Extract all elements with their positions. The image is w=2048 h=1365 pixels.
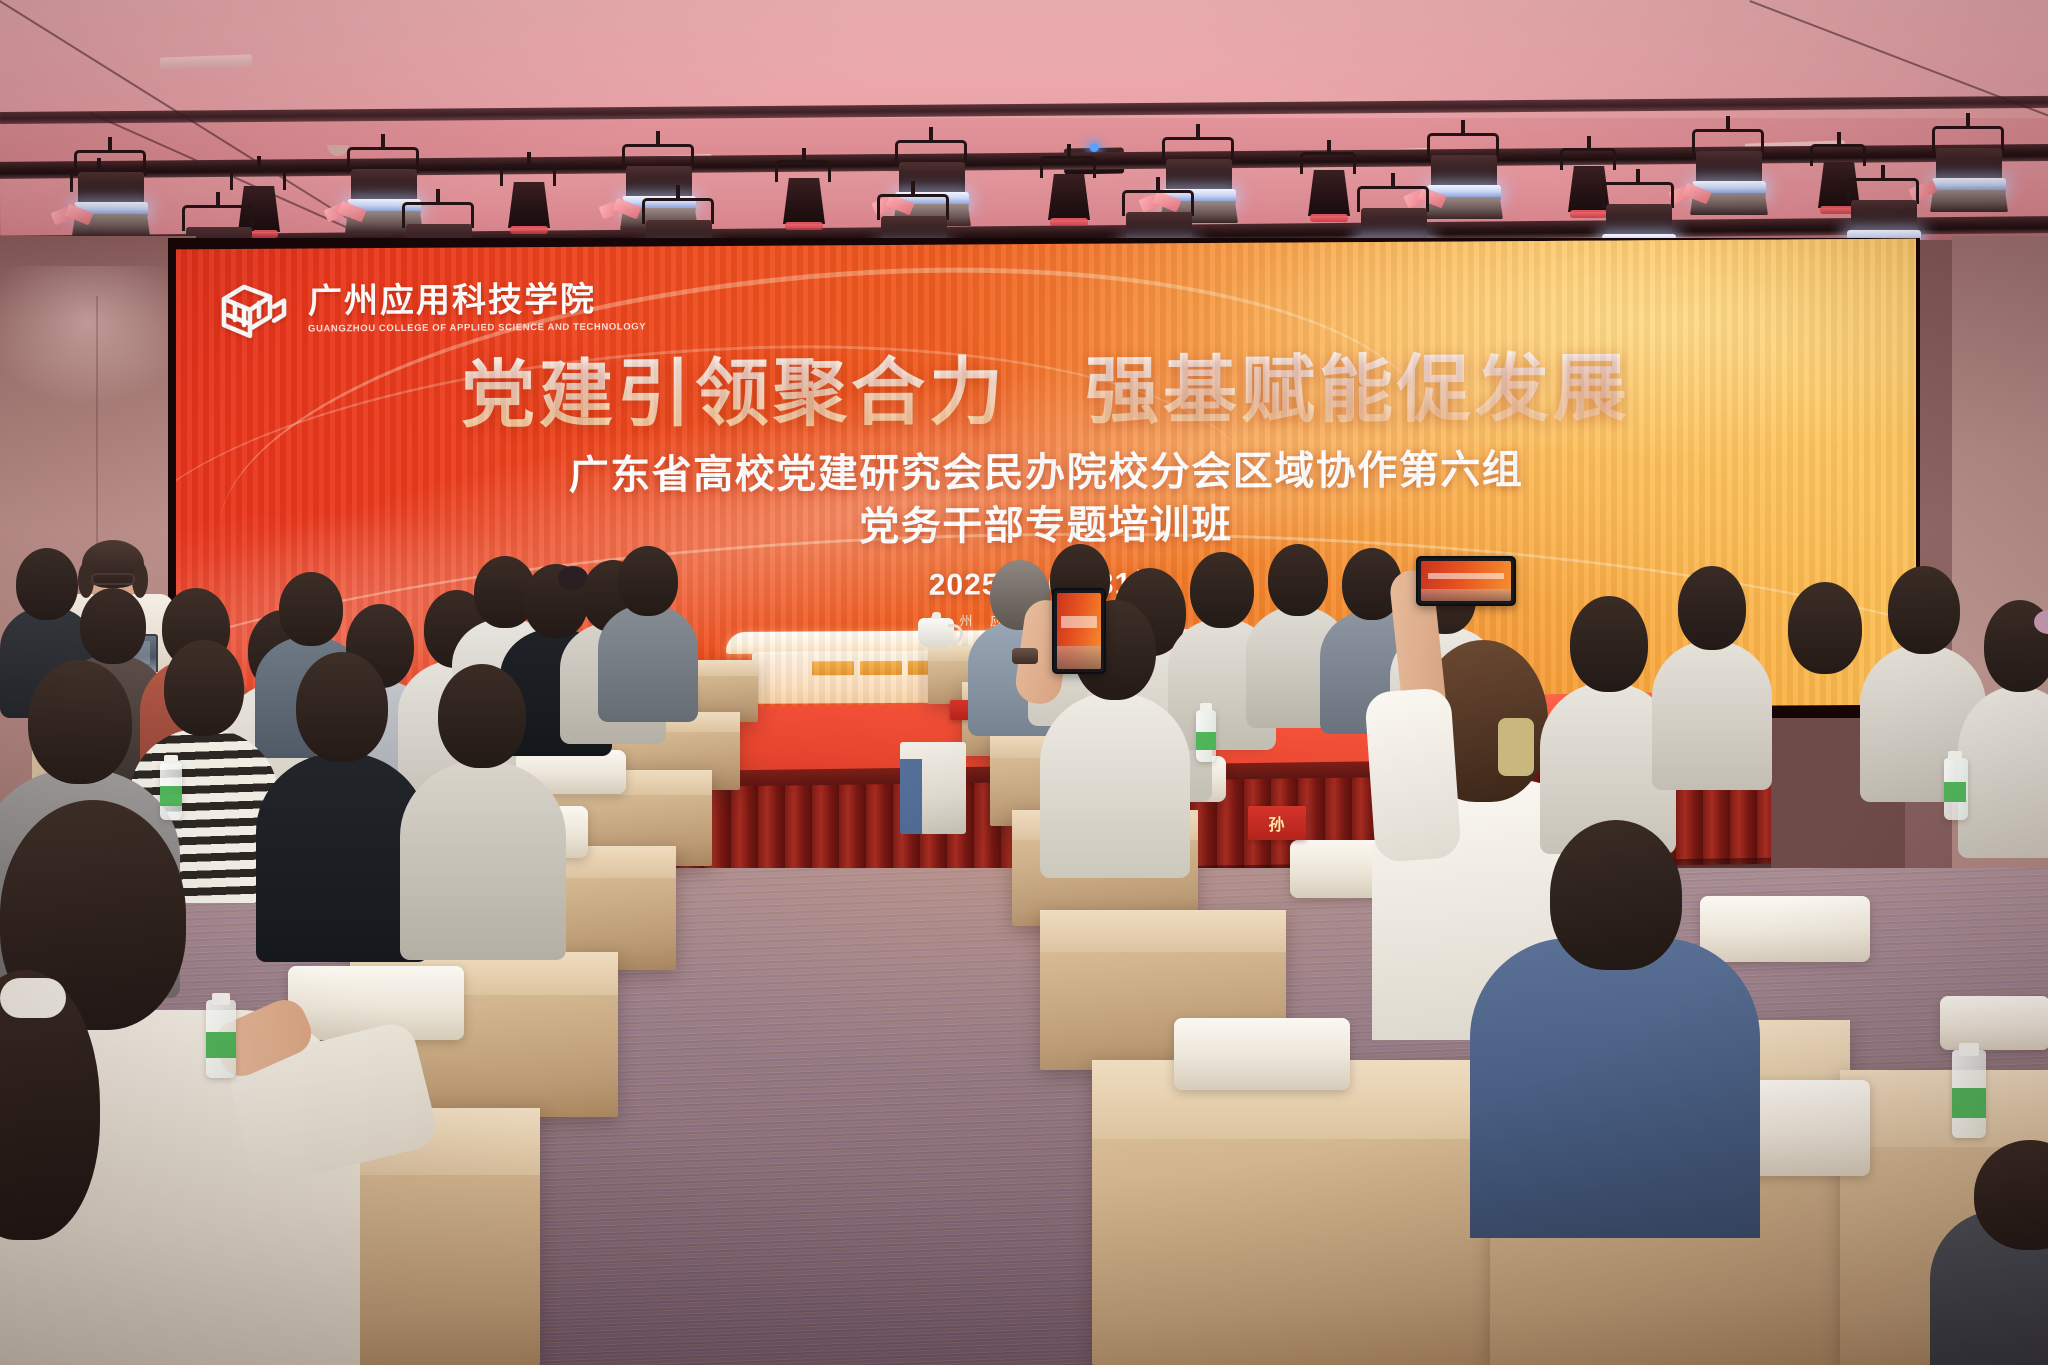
wristwatch [1012, 648, 1038, 664]
attendee-head [1678, 566, 1746, 650]
fixture-cone [1308, 170, 1350, 216]
bottle-label [1944, 782, 1966, 802]
water-bottle [1196, 710, 1216, 762]
attendee [1958, 600, 2048, 830]
attendee-torso [1652, 640, 1772, 790]
attendee-jacket [1470, 938, 1760, 1238]
smartphone-recording[interactable] [1416, 556, 1516, 606]
fixture-glow [1570, 210, 1608, 218]
attendee-head [618, 546, 678, 616]
bottle-label [206, 1032, 236, 1058]
fixture-hood [1930, 190, 2008, 212]
phone-screen [1057, 593, 1101, 669]
attendee-head [1888, 566, 1960, 654]
fixture-cone [783, 178, 825, 224]
bottle-label [1952, 1088, 1986, 1118]
attendee-head [1268, 544, 1328, 616]
wall-light-glow [0, 266, 196, 406]
hair-tie [0, 978, 66, 1018]
bottle-cap [164, 755, 178, 764]
bottle-cap [1948, 751, 1962, 760]
attendee-head [1788, 582, 1862, 674]
audience-chair [1174, 1018, 1350, 1090]
bottle-cap [212, 993, 230, 1005]
conference-hall-photo: 广州应用科技学院 GUANGZHOU COLLEGE OF APPLIED SC… [0, 0, 2048, 1365]
school-name-en: GUANGZHOU COLLEGE OF APPLIED SCIENCE AND… [308, 321, 646, 334]
attendee-head [1190, 552, 1254, 628]
attendee [598, 546, 698, 706]
attendee-torso [598, 604, 698, 722]
attendee-foreground [1470, 820, 1760, 1220]
table-top [1840, 1070, 2048, 1147]
bottle-label [1196, 732, 1216, 750]
teapot-knob [932, 612, 941, 619]
bottle-label [160, 786, 182, 806]
attendee [1652, 566, 1772, 766]
bottle-cap [1200, 703, 1212, 711]
fixture-glow [785, 222, 823, 230]
attendee-head [1550, 820, 1682, 970]
attendee-head [1570, 596, 1648, 692]
fixture-glow [1310, 214, 1348, 222]
attendee-torso [400, 760, 566, 960]
bottle-cap [1959, 1043, 1979, 1056]
school-logo-text: 广州应用科技学院 GUANGZHOU COLLEGE OF APPLIED SC… [308, 283, 646, 335]
projector-led-icon [1090, 143, 1099, 152]
audience-table [1092, 1060, 1492, 1365]
smartphone-recording[interactable] [1052, 588, 1106, 674]
teapot [918, 618, 954, 648]
building-window [860, 661, 902, 675]
water-bottle [1952, 1050, 1986, 1138]
attendee [400, 664, 566, 934]
table-top [1040, 910, 1286, 952]
attendee-head [296, 652, 388, 762]
water-bottle [160, 762, 182, 820]
phone-screen [1421, 561, 1511, 601]
place-name-card: 孙 [1248, 806, 1306, 840]
smoke-detector-icon [327, 145, 349, 156]
bag-panel [900, 759, 922, 834]
attendee-head [438, 664, 526, 768]
event-headline: 党建引领聚合力 强基赋能促发展 [176, 327, 1916, 445]
attendee-sleeve [1364, 687, 1462, 863]
attendee-hair-clip [1498, 718, 1534, 776]
water-bottle [206, 1000, 236, 1078]
fixture-cone [508, 182, 550, 228]
fixture-glow [510, 226, 548, 234]
fixture-glow [1050, 218, 1088, 226]
school-name-cn: 广州应用科技学院 [308, 283, 646, 321]
audience-chair [1940, 996, 2048, 1050]
tote-bag [900, 742, 966, 834]
attendee-torso [1958, 686, 2048, 858]
fixture-cone [1048, 174, 1090, 220]
presenter-glasses-icon [91, 573, 135, 585]
attendee-foreground [1930, 1140, 2048, 1365]
attendee-head [28, 660, 132, 784]
building-window [812, 661, 854, 675]
attendee-torso [1040, 692, 1190, 878]
water-bottle [1944, 758, 1968, 820]
